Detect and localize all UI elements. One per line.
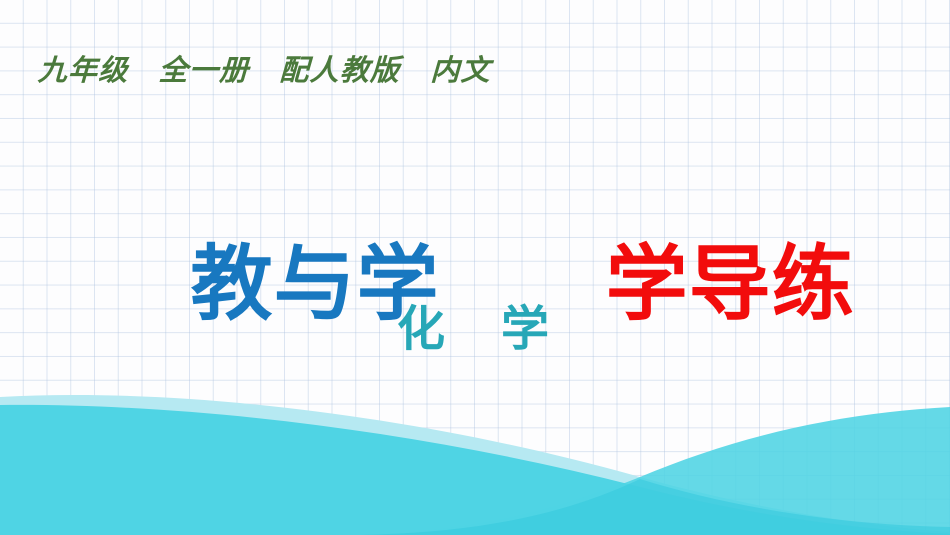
page-title: 教与学 学导练 xyxy=(0,162,950,408)
slide-canvas: 九年级 全一册 配人教版 内文 教与学 学导练 化 学 xyxy=(0,0,950,535)
edition-header-text: 九年级 全一册 配人教版 内文 xyxy=(37,47,491,89)
subject-subtitle: 化 学 xyxy=(0,289,950,359)
